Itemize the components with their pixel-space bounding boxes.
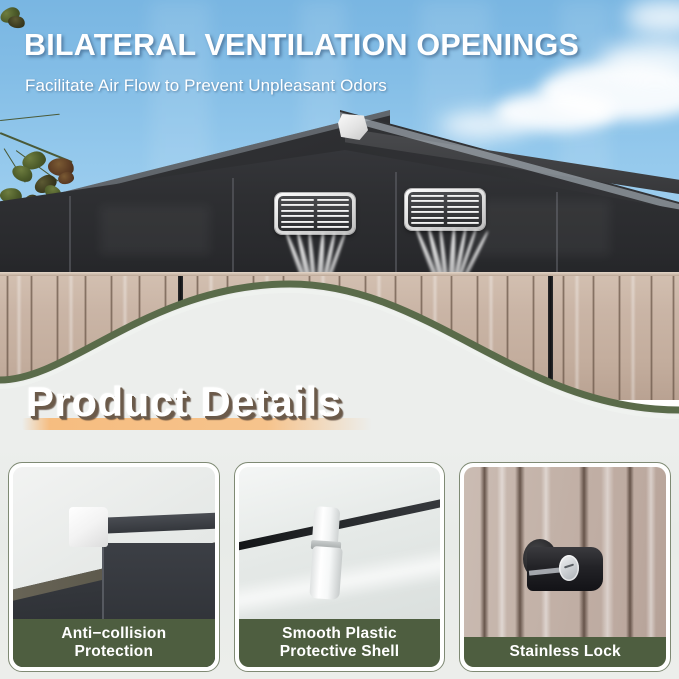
detail-card-plastic-shell[interactable]: Smooth Plastic Protective Shell — [234, 462, 446, 672]
card-photo-plastic-shell: Smooth Plastic Protective Shell — [239, 467, 441, 667]
card2-plastic-shell — [309, 546, 343, 600]
product-infographic: Product Details Anti−collision Protectio… — [0, 0, 679, 679]
card-caption-anti-collision: Anti−collision Protection — [13, 619, 215, 667]
page-subheadline: Facilitate Air Flow to Prevent Unpleasan… — [25, 76, 387, 96]
ventilation-opening-left — [275, 193, 355, 234]
card-photo-stainless-lock: Stainless Lock — [464, 467, 666, 667]
wall-highlight — [470, 200, 610, 256]
ventilation-opening-right — [405, 189, 485, 230]
detail-card-stainless-lock[interactable]: Stainless Lock — [459, 462, 671, 672]
wave-fill — [0, 284, 679, 460]
card-caption-plastic-shell: Smooth Plastic Protective Shell — [239, 619, 441, 667]
page-headline: BILATERAL VENTILATION OPENINGS — [24, 28, 579, 63]
card1-corner-cap — [69, 507, 107, 547]
wall-highlight — [100, 205, 210, 255]
card-caption-stainless-lock: Stainless Lock — [464, 637, 666, 667]
detail-card-anti-collision[interactable]: Anti−collision Protection — [8, 462, 220, 672]
product-details-title: Product Details — [26, 378, 342, 426]
card-photo-anti-collision: Anti−collision Protection — [13, 467, 215, 667]
product-details-cards: Anti−collision Protection Smooth Plastic… — [0, 462, 679, 672]
cloud — [440, 112, 530, 138]
